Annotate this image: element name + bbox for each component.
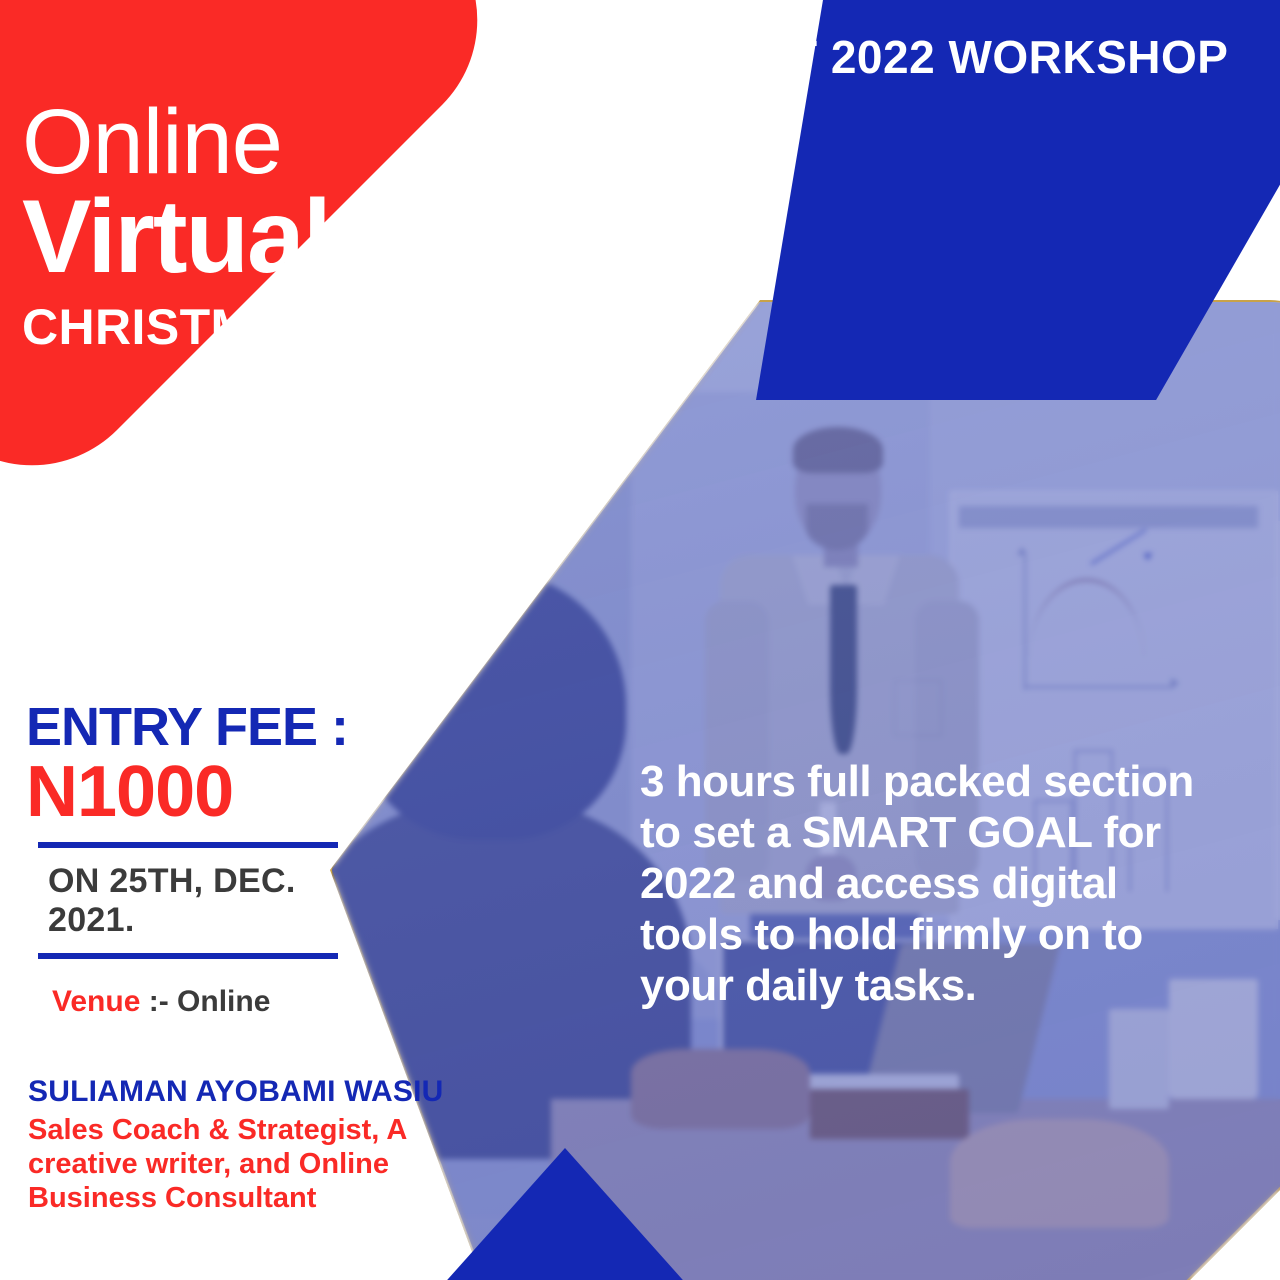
speaker-block: SULIAMAN AYOBAMI WASIU Sales Coach & Str… [28, 1075, 568, 1216]
main-title-block: Online Virtual CHRISTMAS DINNER [22, 98, 602, 356]
description-line: to set a SMART GOAL for [640, 807, 1280, 858]
title-line-online: Online [22, 98, 602, 186]
entry-fee-amount: N1000 [26, 756, 366, 829]
divider-rule-top [38, 842, 338, 848]
event-date: ON 25TH, DEC. 2021. [48, 862, 366, 940]
description-line: 3 hours full packed section [640, 756, 1280, 807]
entry-fee-block: ENTRY FEE : N1000 ON 25TH, DEC. 2021. Ve… [26, 700, 366, 1019]
description-line: your daily tasks. [640, 960, 1280, 1011]
flyer-poster: SMART 2022 WORKSHOP Online Virtual CHRIS… [0, 0, 1280, 1280]
venue-label: Venue [52, 985, 140, 1018]
venue-line: Venue :- Online [52, 985, 366, 1019]
speaker-role-line: Business Consultant [28, 1181, 568, 1215]
description-line: 2022 and access digital [640, 858, 1280, 909]
speaker-role-line: creative writer, and Online [28, 1147, 568, 1181]
title-line-virtual: Virtual [22, 188, 602, 288]
speaker-role: Sales Coach & Strategist, A creative wri… [28, 1113, 568, 1216]
description-block: 3 hours full packed section to set a SMA… [640, 756, 1280, 1011]
speaker-name: SULIAMAN AYOBAMI WASIU [28, 1075, 568, 1109]
venue-value: :- Online [149, 985, 271, 1018]
entry-fee-label: ENTRY FEE : [26, 700, 366, 754]
description-line: tools to hold firmly on to [640, 909, 1280, 960]
divider-rule-bottom [38, 953, 338, 959]
speaker-role-line: Sales Coach & Strategist, A [28, 1113, 568, 1147]
title-line-christmas-dinner: CHRISTMAS DINNER [22, 298, 602, 356]
workshop-header-title: SMART 2022 WORKSHOP [600, 34, 1280, 80]
